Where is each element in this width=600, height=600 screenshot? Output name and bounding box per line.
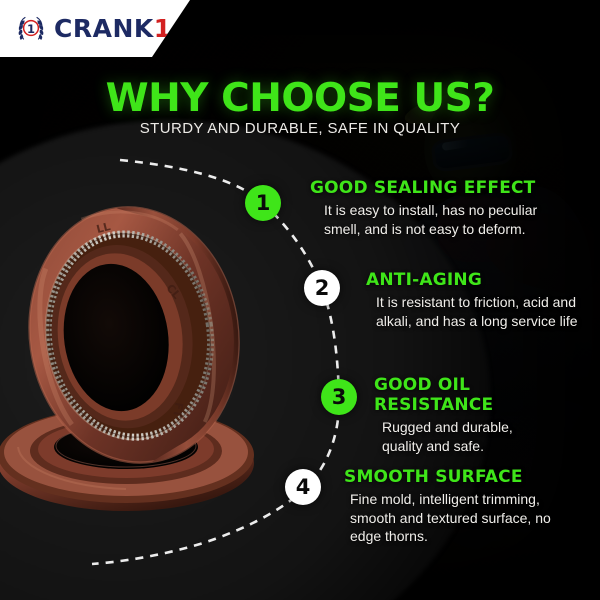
feature-item-3: GOOD OIL RESISTANCE Rugged and durable, … bbox=[374, 375, 592, 455]
feature-description-2: It is resistant to friction, acid and al… bbox=[366, 293, 591, 330]
feature-description-4: Fine mold, intelligent trimming, smooth … bbox=[344, 490, 592, 546]
page-subtitle: STURDY AND DURABLE, SAFE IN QUALITY bbox=[0, 120, 600, 137]
product-image-oil-seals: LL CL FT bbox=[0, 175, 274, 525]
feature-desc-line: edge thorns. bbox=[350, 527, 592, 546]
brand-wordmark: CRANK1 bbox=[54, 16, 172, 41]
feature-badge-2[interactable]: 2 bbox=[304, 270, 340, 306]
brand-name-main: CRANK bbox=[54, 16, 154, 41]
feature-desc-line: It is resistant to friction, acid and bbox=[376, 293, 591, 312]
feature-desc-line: It is easy to install, has no peculiar bbox=[324, 201, 572, 220]
feature-desc-line: quality and safe. bbox=[382, 437, 592, 456]
feature-desc-line: smooth and textured surface, no bbox=[350, 509, 592, 528]
feature-desc-line: Rugged and durable, bbox=[382, 418, 592, 437]
feature-badge-3[interactable]: 3 bbox=[321, 379, 357, 415]
feature-desc-line: alkali, and has a long service life bbox=[376, 312, 591, 331]
laurel-wreath-number-one-icon: 1 bbox=[14, 12, 48, 46]
feature-item-2: ANTI-AGING It is resistant to friction, … bbox=[366, 270, 591, 330]
feature-badge-4[interactable]: 4 bbox=[285, 469, 321, 505]
feature-badge-1[interactable]: 1 bbox=[245, 185, 281, 221]
feature-item-4: SMOOTH SURFACE Fine mold, intelligent tr… bbox=[344, 467, 592, 546]
page-title: WHY CHOOSE US? bbox=[0, 76, 600, 121]
feature-description-1: It is easy to install, has no peculiar s… bbox=[310, 201, 572, 238]
svg-text:1: 1 bbox=[27, 22, 35, 36]
feature-item-1: GOOD SEALING EFFECT It is easy to instal… bbox=[310, 178, 572, 238]
feature-title-4: SMOOTH SURFACE bbox=[344, 467, 592, 487]
feature-title-1: GOOD SEALING EFFECT bbox=[310, 178, 572, 198]
feature-title-2: ANTI-AGING bbox=[366, 270, 591, 290]
feature-description-3: Rugged and durable, quality and safe. bbox=[374, 418, 592, 455]
feature-desc-line: smell, and is not easy to deform. bbox=[324, 220, 572, 239]
infographic-poster: 1 CRANK1 WHY CHOOSE US? STURDY AND DURAB… bbox=[0, 0, 600, 600]
svg-text:FT: FT bbox=[170, 401, 185, 419]
feature-title-3: GOOD OIL RESISTANCE bbox=[374, 375, 592, 415]
feature-desc-line: Fine mold, intelligent trimming, bbox=[350, 490, 592, 509]
